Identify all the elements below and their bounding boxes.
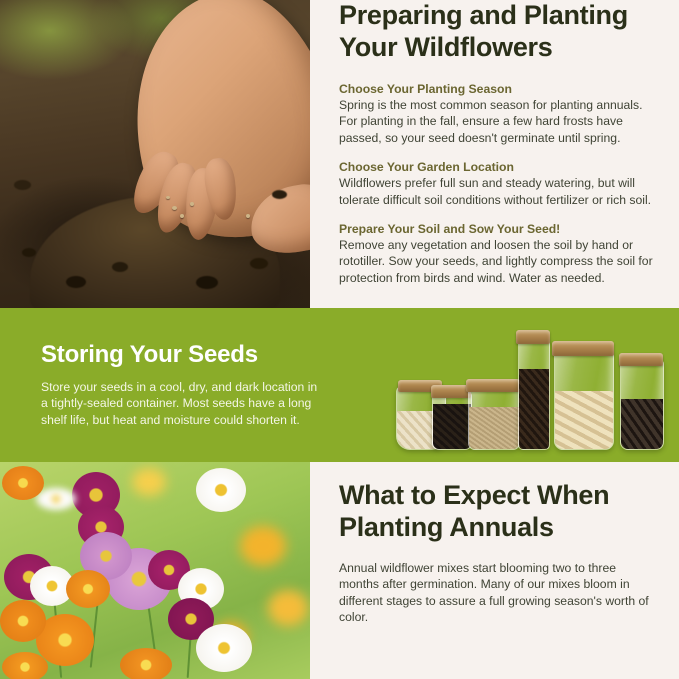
- body-garden-location: Wildflowers prefer full sun and steady w…: [339, 175, 659, 208]
- jar-2-seeds: [433, 404, 471, 449]
- jar-4-seeds: [519, 369, 549, 449]
- infographic-page: Preparing and Planting Your Wildflowers …: [0, 0, 679, 679]
- seed-2: [180, 214, 184, 218]
- flower-orange-bottom2: [2, 652, 48, 679]
- storing-text-column: Storing Your Seeds Store your seeds in a…: [41, 341, 323, 428]
- flower-orange-mid: [66, 570, 110, 608]
- block-planting-season: Choose Your Planting Season Spring is th…: [339, 81, 659, 146]
- expect-heading: What to Expect When Planting Annuals: [339, 480, 659, 543]
- jar-5-cork: [552, 341, 614, 356]
- block-garden-location: Choose Your Garden Location Wildflowers …: [339, 159, 659, 208]
- block-prepare-soil: Prepare Your Soil and Sow Your Seed! Rem…: [339, 221, 659, 286]
- expect-body: Annual wildflower mixes start blooming t…: [339, 560, 659, 626]
- expect-heading-line-1: What to Expect When: [339, 480, 609, 510]
- seed-1: [172, 206, 177, 210]
- jar-3-cork: [466, 379, 520, 392]
- flower-white-bottomright: [196, 624, 252, 672]
- hands-sowing-seeds-in-soil-photo: [0, 0, 310, 308]
- flower-orange-left: [0, 600, 46, 642]
- page-title-line-1: Preparing and Planting: [339, 0, 628, 30]
- bokeh-3: [132, 468, 166, 496]
- soil-speck-4: [196, 276, 218, 289]
- jar-6-seeds: [621, 399, 663, 449]
- section-preparing-planting: Preparing and Planting Your Wildflowers …: [0, 0, 679, 311]
- glass-jars-with-cork-lids-of-seeds-photo: [388, 322, 668, 454]
- jar-5: [554, 350, 614, 450]
- expect-text-column: What to Expect When Planting Annuals Ann…: [339, 480, 659, 626]
- expect-heading-line-2: Planting Annuals: [339, 512, 554, 542]
- jar-5-seeds: [555, 391, 613, 449]
- soil-speck-5: [250, 258, 268, 269]
- body-prepare-soil: Remove any vegetation and loosen the soi…: [339, 237, 659, 286]
- storing-body: Store your seeds in a cool, dry, and dar…: [41, 379, 323, 428]
- subheading-planting-season: Choose Your Planting Season: [339, 81, 659, 97]
- soil-speck-6: [14, 180, 31, 190]
- jar-4: [518, 338, 550, 450]
- bokeh-2: [268, 590, 308, 626]
- page-title-line-2: Your Wildflowers: [339, 32, 552, 62]
- body-planting-season: Spring is the most common season for pla…: [339, 97, 659, 146]
- jar-3-seeds: [469, 407, 519, 449]
- seed-3: [166, 196, 170, 199]
- jar-2: [432, 392, 472, 450]
- section-what-to-expect: What to Expect When Planting Annuals Ann…: [0, 462, 679, 679]
- subheading-garden-location: Choose Your Garden Location: [339, 159, 659, 175]
- flower-orange-bottom: [120, 648, 172, 679]
- jar-2-cork: [431, 385, 471, 398]
- storing-heading: Storing Your Seeds: [41, 341, 323, 369]
- section-storing-seeds: Storing Your Seeds Store your seeds in a…: [0, 308, 679, 462]
- seed-5: [246, 214, 250, 218]
- soil-speck-3: [112, 262, 128, 272]
- soil-speck-7: [272, 190, 287, 199]
- preparing-text-column: Preparing and Planting Your Wildflowers …: [339, 0, 659, 286]
- page-title: Preparing and Planting Your Wildflowers: [339, 0, 659, 63]
- soil-speck-1: [22, 248, 36, 257]
- jar-6: [620, 360, 664, 450]
- seed-4: [190, 202, 194, 206]
- flower-orange-topleft: [2, 466, 44, 500]
- jar-3: [468, 386, 520, 450]
- subheading-prepare-soil: Prepare Your Soil and Sow Your Seed!: [339, 221, 659, 237]
- flower-white-topright: [196, 468, 246, 512]
- bokeh-1: [240, 526, 286, 566]
- flower-white-left: [36, 488, 76, 510]
- soil-speck-2: [66, 276, 86, 288]
- jar-4-cork: [516, 330, 550, 344]
- jar-6-cork: [619, 353, 663, 366]
- colorful-cosmos-wildflowers-photo: [0, 462, 310, 679]
